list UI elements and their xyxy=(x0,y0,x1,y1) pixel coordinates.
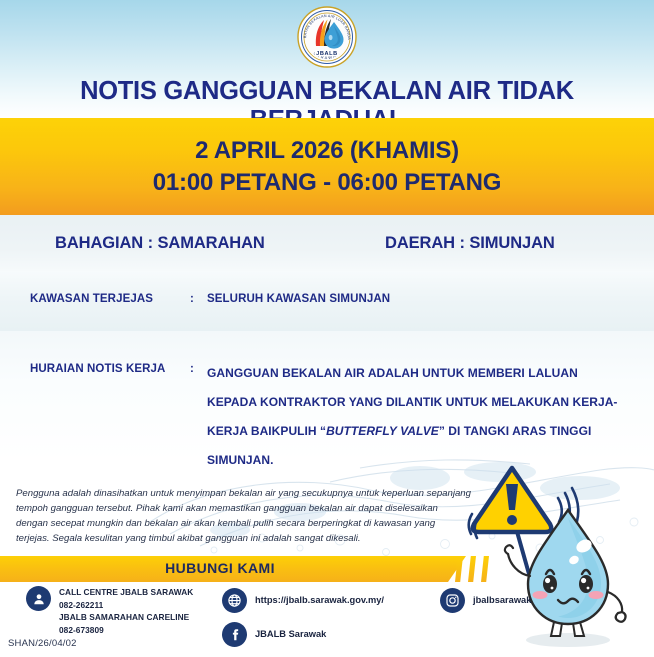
contact-facebook[interactable]: JBALB Sarawak xyxy=(222,622,326,647)
careline-phone: 082-673809 xyxy=(59,624,193,637)
work-desc-line3-italic: BUTTERFLY VALVE xyxy=(326,424,439,438)
instagram-handle: jbalbsarawak xyxy=(473,588,531,605)
water-disruption-notice-poster: JABATAN BEKALAN AIR LUAR BANDAR SARAWAK … xyxy=(0,0,654,657)
contact-details: CALL CENTRE JBALB SARAWAK 082-262211 JBA… xyxy=(0,586,654,646)
call-centre-name: CALL CENTRE JBALB SARAWAK xyxy=(59,586,193,599)
person-icon xyxy=(26,586,51,611)
work-desc-line3-pre: KERJA BAIKPULIH “ xyxy=(207,424,326,438)
careline-name: JBALB SAMARAHAN CARELINE xyxy=(59,611,193,624)
notice-time: 01:00 PETANG - 06:00 PETANG xyxy=(153,167,501,199)
contact-banner-title: HUBUNGI KAMI xyxy=(0,560,440,576)
logo-svg: JABATAN BEKALAN AIR LUAR BANDAR SARAWAK … xyxy=(296,6,358,68)
district-label: DAERAH : SIMUNJAN xyxy=(385,234,555,253)
affected-area-label: KAWASAN TERJEJAS xyxy=(30,293,153,305)
contact-call-centre[interactable]: CALL CENTRE JBALB SARAWAK 082-262211 JBA… xyxy=(26,586,193,636)
facebook-handle: JBALB Sarawak xyxy=(255,622,326,639)
poster-header: JABATAN BEKALAN AIR LUAR BANDAR SARAWAK … xyxy=(0,0,654,118)
work-description-line-3: KERJA BAIKPULIH “BUTTERFLY VALVE” DI TAN… xyxy=(207,417,627,446)
disclaimer-text: Pengguna adalah dinasihatkan untuk menyi… xyxy=(16,487,471,546)
svg-text:JBALB: JBALB xyxy=(316,51,338,57)
contact-website[interactable]: https://jbalb.sarawak.gov.my/ xyxy=(222,588,384,613)
globe-icon xyxy=(222,588,247,613)
work-description-colon: : xyxy=(190,363,194,375)
affected-area-colon: : xyxy=(190,293,194,305)
website-url: https://jbalb.sarawak.gov.my/ xyxy=(255,588,384,605)
contact-instagram[interactable]: jbalbsarawak xyxy=(440,588,531,613)
work-description-line-1: GANGGUAN BEKALAN AIR ADALAH UNTUK MEMBER… xyxy=(207,359,627,388)
affected-area-section: KAWASAN TERJEJAS : SELURUH KAWASAN SIMUN… xyxy=(0,271,654,331)
instagram-icon xyxy=(440,588,465,613)
reference-code: SHAN/26/04/02 xyxy=(8,638,77,649)
division-label: BAHAGIAN : SAMARAHAN xyxy=(55,234,265,253)
work-desc-line3-post: ” DI TANGKI ARAS TINGGI xyxy=(439,424,591,438)
date-time-band: 2 APRIL 2026 (KHAMIS) 01:00 PETANG - 06:… xyxy=(0,118,654,215)
jbalb-sarawak-logo: JABATAN BEKALAN AIR LUAR BANDAR SARAWAK … xyxy=(296,6,358,68)
notice-date: 2 APRIL 2026 (KHAMIS) xyxy=(195,135,459,167)
work-description-line-2: KEPADA KONTRAKTOR YANG DILANTIK UNTUK ME… xyxy=(207,388,627,417)
facebook-icon xyxy=(222,622,247,647)
division-district-section: BAHAGIAN : SAMARAHAN DAERAH : SIMUNJAN xyxy=(0,215,654,271)
work-description-label: HURAIAN NOTIS KERJA xyxy=(30,363,165,375)
work-description-body: GANGGUAN BEKALAN AIR ADALAH UNTUK MEMBER… xyxy=(207,359,627,475)
call-centre-phone: 082-262211 xyxy=(59,599,193,612)
work-description-section: HURAIAN NOTIS KERJA : GANGGUAN BEKALAN A… xyxy=(0,331,654,461)
affected-area-value: SELURUH KAWASAN SIMUNJAN xyxy=(207,293,390,305)
